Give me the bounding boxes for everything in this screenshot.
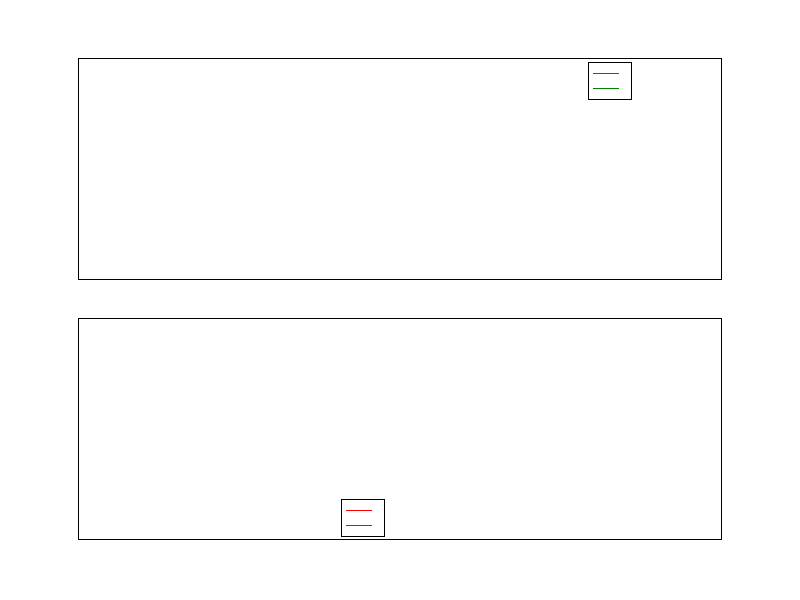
legend-item[interactable] xyxy=(593,66,626,81)
legend-line-swatch-green xyxy=(346,525,372,526)
bottom-panel-axes xyxy=(78,318,722,540)
legend-item[interactable] xyxy=(346,518,379,533)
legend-line-swatch-green xyxy=(593,88,619,89)
legend-item[interactable] xyxy=(593,81,626,96)
legend-item[interactable] xyxy=(346,503,379,518)
top-panel-legend[interactable] xyxy=(588,62,632,100)
bottom-panel-plot-area xyxy=(79,319,721,539)
legend-line-swatch-red xyxy=(346,510,372,511)
legend-line-swatch-red xyxy=(593,73,619,74)
bottom-panel-legend[interactable] xyxy=(341,499,385,537)
figure-canvas xyxy=(0,0,800,600)
